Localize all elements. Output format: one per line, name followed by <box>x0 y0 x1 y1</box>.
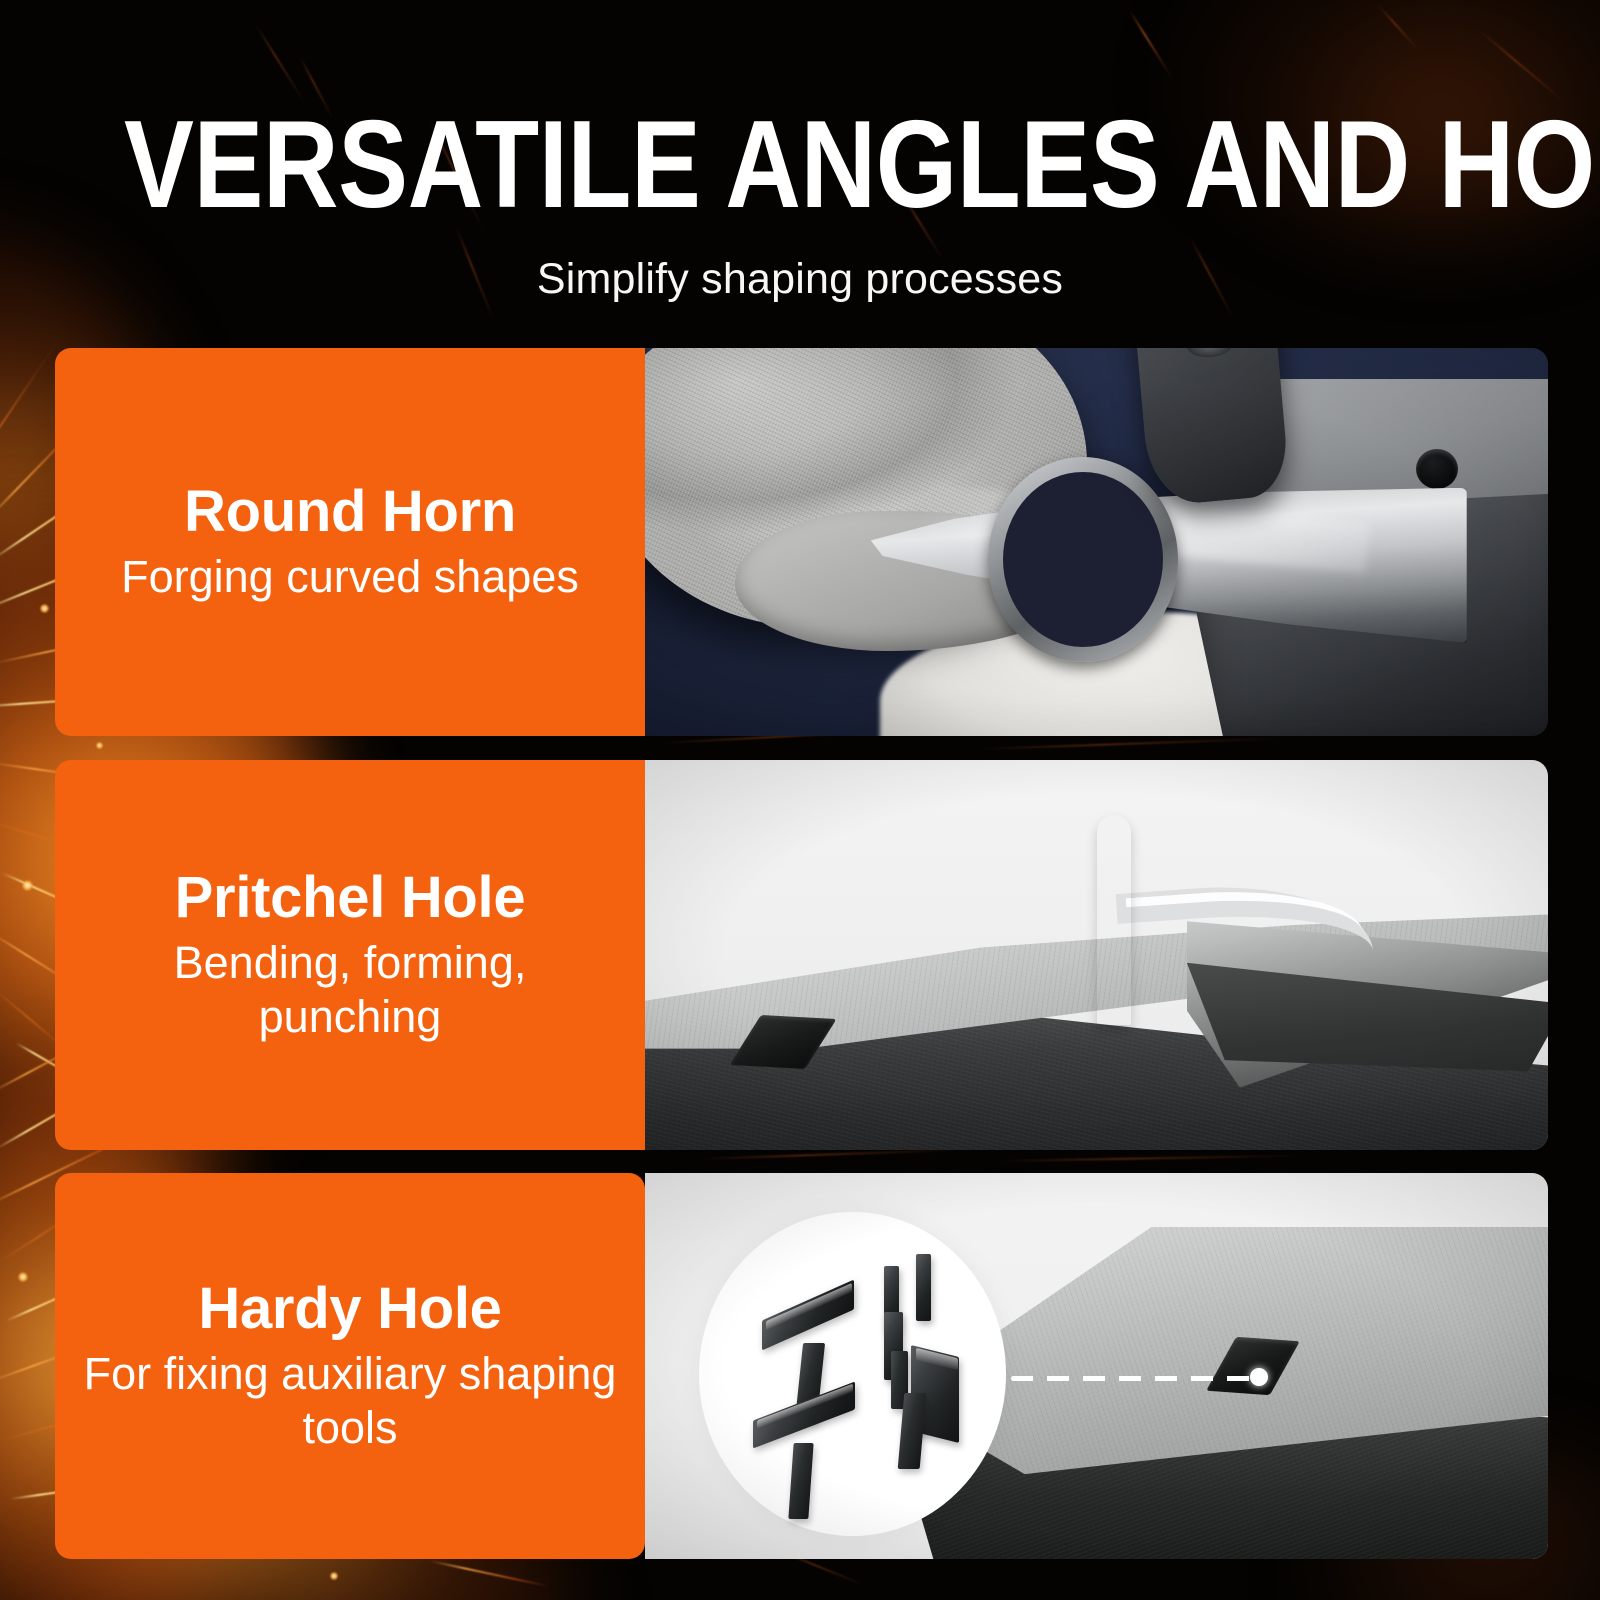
pritchel-hole-dot-icon <box>1416 449 1458 489</box>
tools-callout-oval <box>699 1212 1006 1536</box>
hardy-tool-fork-prong <box>916 1254 931 1321</box>
pritchel-hole-photo <box>645 760 1548 1150</box>
feature-label-card-hardy-hole: Hardy Hole For fixing auxiliary shaping … <box>55 1173 645 1559</box>
feature-list: Round Horn Forging curved shapes <box>0 0 1600 1600</box>
vertical-steel-rod <box>1097 815 1131 1026</box>
feature-row-round-horn: Round Horn Forging curved shapes <box>55 348 1548 736</box>
feature-title-hardy-hole: Hardy Hole <box>198 1277 501 1341</box>
feature-label-card-round-horn: Round Horn Forging curved shapes <box>55 348 645 736</box>
tongs-hole <box>1186 348 1234 359</box>
steel-ring <box>988 457 1178 662</box>
feature-title-round-horn: Round Horn <box>184 480 516 544</box>
feature-description-round-horn: Forging curved shapes <box>121 550 579 604</box>
hardy-hole-photo <box>645 1173 1548 1559</box>
callout-dashed-connector <box>1011 1376 1255 1381</box>
feature-row-pritchel-hole: Pritchel Hole Bending, forming, punching <box>55 760 1548 1150</box>
round-horn-photo <box>645 348 1548 736</box>
forging-tongs <box>1133 348 1290 507</box>
feature-title-pritchel-hole: Pritchel Hole <box>175 866 526 930</box>
feature-description-hardy-hole: For fixing auxiliary shaping tools <box>80 1347 620 1455</box>
product-infographic: VERSATILE ANGLES AND HOLE DESIGN Simplif… <box>0 0 1600 1600</box>
feature-label-card-pritchel-hole: Pritchel Hole Bending, forming, punching <box>55 760 645 1150</box>
feature-description-pritchel-hole: Bending, forming, punching <box>80 936 620 1044</box>
feature-row-hardy-hole: Hardy Hole For fixing auxiliary shaping … <box>55 1173 1548 1559</box>
